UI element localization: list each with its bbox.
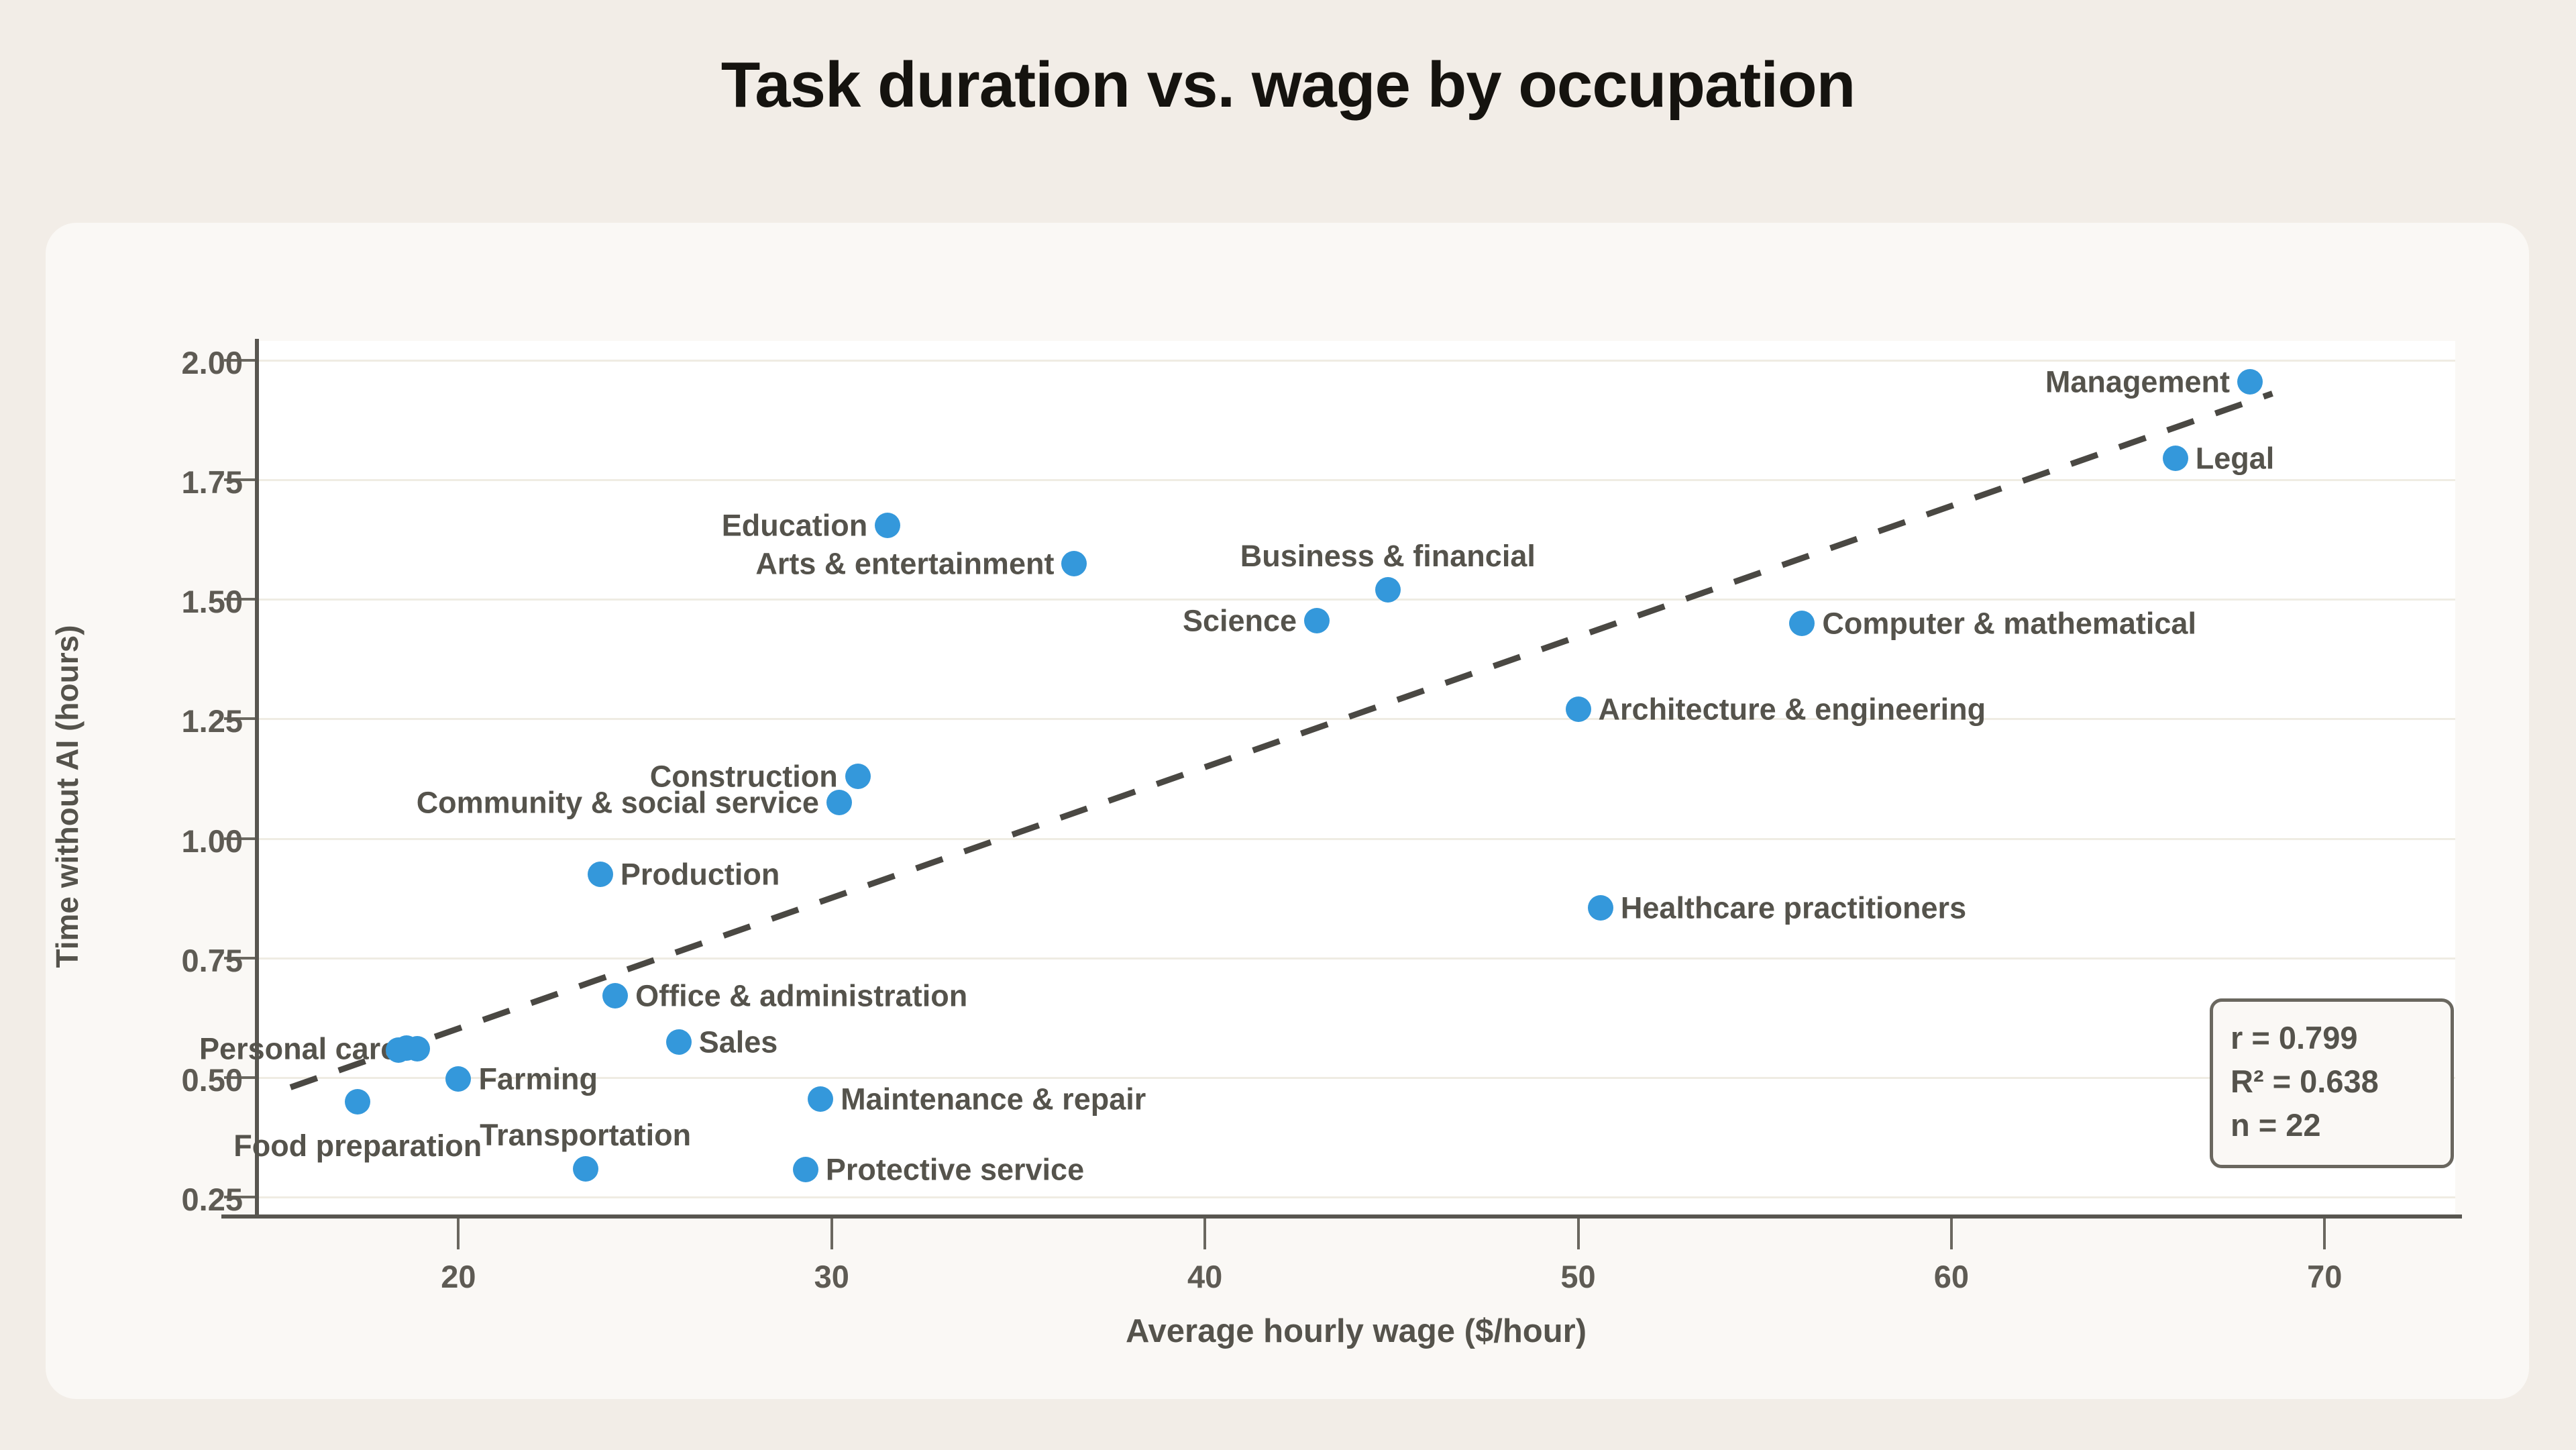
scatter-point[interactable] <box>1061 551 1087 576</box>
point-label: Business & financial <box>1240 541 1536 571</box>
x-axis-label: Average hourly wage ($/hour) <box>257 1312 2455 1350</box>
stat-r2: R² = 0.638 <box>2231 1060 2433 1104</box>
scatter-point[interactable] <box>875 513 900 538</box>
stat-r: r = 0.799 <box>2231 1017 2433 1060</box>
scatter-point[interactable] <box>1375 577 1401 603</box>
chart-page: Task duration vs. wage by occupation 2.0… <box>0 0 2576 1450</box>
scatter-point[interactable] <box>588 862 613 887</box>
scatter-point[interactable] <box>793 1157 818 1182</box>
scatter-point[interactable] <box>602 983 628 1008</box>
point-label: Architecture & engineering <box>1599 694 1986 725</box>
scatter-point[interactable] <box>445 1066 471 1092</box>
point-label: Food preparation <box>233 1131 482 1161</box>
scatter-point[interactable] <box>1566 696 1591 722</box>
scatter-point[interactable] <box>845 764 871 789</box>
point-label: Maintenance & repair <box>841 1084 1146 1115</box>
scatter-point[interactable] <box>1789 611 1815 636</box>
point-label: Management <box>2045 366 2230 397</box>
stat-n: n = 22 <box>2231 1104 2433 1147</box>
point-label: Protective service <box>826 1155 1084 1185</box>
scatter-point[interactable] <box>666 1029 692 1055</box>
point-label: Arts & entertainment <box>755 548 1054 578</box>
point-label: Personal care <box>199 1034 397 1064</box>
point-label: Sales <box>699 1027 778 1057</box>
point-label: Computer & mathematical <box>1822 608 2196 638</box>
point-label: Community & social service <box>417 788 819 818</box>
point-label: Healthcare practitioners <box>1621 893 1966 923</box>
scatter-point[interactable] <box>2237 369 2263 395</box>
scatter-point[interactable] <box>1304 608 1330 633</box>
point-label: Education <box>722 510 868 540</box>
point-label: Science <box>1183 606 1297 636</box>
point-label: Legal <box>2196 443 2275 473</box>
scatter-point[interactable] <box>826 790 852 815</box>
scatter-point[interactable] <box>394 1035 419 1061</box>
scatter-point[interactable] <box>1588 895 1613 921</box>
point-label: Production <box>621 860 780 890</box>
point-label: Farming <box>478 1064 598 1094</box>
point-label: Office & administration <box>635 980 967 1011</box>
scatter-point[interactable] <box>573 1156 598 1182</box>
stats-box: r = 0.799 R² = 0.638 n = 22 <box>2210 998 2454 1168</box>
scatter-point[interactable] <box>2163 446 2188 471</box>
y-axis-label: Time without AI (hours) <box>49 327 85 1266</box>
trendline <box>0 0 2576 1450</box>
scatter-point[interactable] <box>345 1089 370 1115</box>
point-label: Transportation <box>480 1120 691 1150</box>
